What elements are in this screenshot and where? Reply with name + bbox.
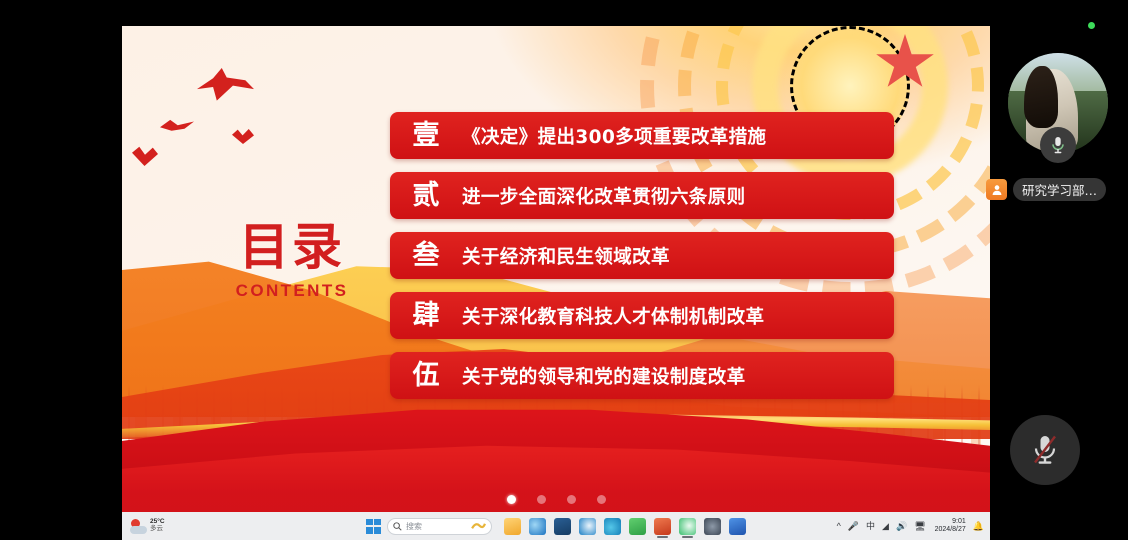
list-item[interactable]: 贰 进一步全面深化改革贯彻六条原则 (390, 172, 894, 219)
item-label: 关于经济和民生领域改革 (462, 243, 670, 269)
weather-widget[interactable]: 25°C 多云 (130, 519, 165, 534)
taskbar-app-meeting[interactable] (679, 518, 696, 535)
item-number: 叁 (390, 242, 462, 269)
mic-muted-icon (1030, 433, 1060, 467)
page-title: 目录 (212, 222, 372, 272)
tray-mic-icon[interactable]: 🎤 (848, 522, 859, 531)
item-label: 《决定》提出300多项重要改革措施 (462, 123, 766, 149)
list-item[interactable]: 肆 关于深化教育科技人才体制机制改革 (390, 292, 894, 339)
letterbox-top (122, 0, 990, 26)
slide-title-block: 目录 CONTENTS (212, 222, 372, 301)
item-label: 关于党的领导和党的建设制度改革 (462, 363, 746, 389)
letterbox-left (0, 0, 122, 540)
weather-cloud-icon (130, 519, 147, 534)
list-item[interactable]: 壹 《决定》提出300多项重要改革措施 (390, 112, 894, 159)
taskbar-app-settings[interactable] (704, 518, 721, 535)
volume-icon[interactable]: 🔊 (896, 522, 907, 531)
list-item[interactable]: 叁 关于经济和民生领域改革 (390, 232, 894, 279)
network-icon[interactable]: 🖥 (914, 522, 925, 531)
page-subtitle: CONTENTS (212, 281, 372, 301)
item-label: 进一步全面深化改革贯彻六条原则 (462, 183, 746, 209)
taskbar-app-office[interactable] (579, 518, 596, 535)
taskbar-app-file-explorer[interactable] (504, 518, 521, 535)
taskbar-clock[interactable]: 9:01 2024/8/27 (935, 518, 966, 533)
taskbar-app-wechat[interactable] (629, 518, 646, 535)
wifi-icon[interactable]: ◢ (882, 522, 889, 531)
search-input[interactable]: 搜索 (387, 518, 492, 535)
shared-screen-area[interactable]: 目录 CONTENTS 壹 《决定》提出300多项重要改革措施 贰 进一步全面深… (122, 26, 990, 513)
slide-dot-3[interactable] (567, 495, 576, 504)
system-tray: ^ 🎤 中 ◢ 🔊 🖥 9:01 2024/8/27 🔔 (837, 518, 984, 533)
start-button[interactable] (366, 519, 381, 534)
self-mute-button[interactable] (1010, 415, 1080, 485)
clock-time: 9:01 (935, 518, 966, 526)
participant-sidebar: 研究学习部… (990, 0, 1128, 540)
chevron-up-icon[interactable]: ^ (837, 522, 841, 531)
ime-icon[interactable]: 中 (866, 522, 875, 531)
mic-icon (1040, 127, 1076, 163)
taskbar-app-powerpoint[interactable] (654, 518, 671, 535)
taskbar-app-microsoft-store[interactable] (554, 518, 571, 535)
taskbar-center-group: 搜索 (366, 518, 746, 535)
taskbar-app-icons (504, 518, 746, 535)
flying-birds-decoration (140, 50, 290, 170)
weather-condition: 多云 (150, 526, 165, 533)
presentation-slide: 目录 CONTENTS 壹 《决定》提出300多项重要改革措施 贰 进一步全面深… (122, 26, 990, 513)
participant-video-tile[interactable] (1008, 53, 1108, 153)
copilot-icon (471, 521, 486, 532)
search-icon (393, 522, 402, 531)
item-number: 肆 (390, 302, 462, 329)
slide-dot-4[interactable] (597, 495, 606, 504)
list-item[interactable]: 伍 关于党的领导和党的建设制度改革 (390, 352, 894, 399)
item-number: 贰 (390, 182, 462, 209)
item-label: 关于深化教育科技人才体制机制改革 (462, 303, 764, 329)
item-number: 壹 (390, 122, 462, 149)
windows-taskbar[interactable]: 25°C 多云 搜索 (122, 512, 990, 540)
search-placeholder: 搜索 (406, 521, 422, 532)
participant-name-row: 研究学习部… (986, 178, 1106, 201)
user-avatar-icon (986, 179, 1007, 200)
slide-dot-1[interactable] (507, 495, 516, 504)
contents-list: 壹 《决定》提出300多项重要改革措施 贰 进一步全面深化改革贯彻六条原则 叁 … (390, 112, 894, 412)
notification-bell-icon[interactable]: 🔔 (973, 522, 984, 531)
recording-indicator-dot (1088, 22, 1095, 29)
slide-nav-dots[interactable] (122, 495, 990, 504)
participant-name: 研究学习部… (1013, 178, 1106, 201)
item-number: 伍 (390, 362, 462, 389)
taskbar-app-microsoft-edge[interactable] (604, 518, 621, 535)
clock-date: 2024/8/27 (935, 526, 966, 534)
taskbar-app-blue-app[interactable] (729, 518, 746, 535)
taskbar-app-browser-blue[interactable] (529, 518, 546, 535)
slide-dot-2[interactable] (537, 495, 546, 504)
screen-root: 目录 CONTENTS 壹 《决定》提出300多项重要改革措施 贰 进一步全面深… (0, 0, 1128, 540)
